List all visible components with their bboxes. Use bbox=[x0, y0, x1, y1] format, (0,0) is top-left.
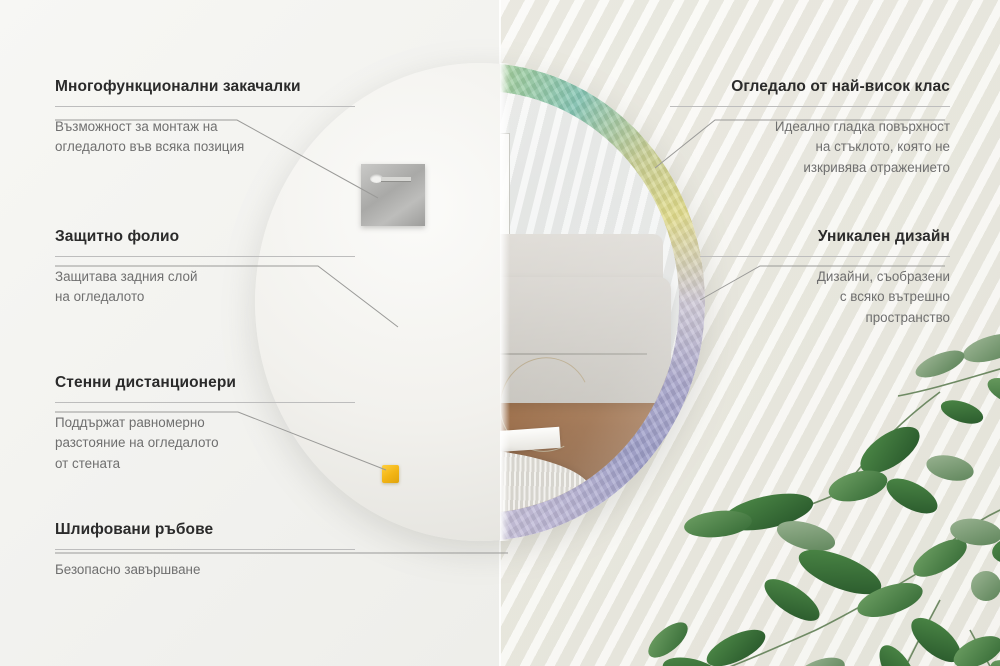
feature-rule bbox=[670, 106, 950, 107]
feature-title-polished-edges: Шлифовани ръбове bbox=[55, 521, 355, 540]
feature-title-wall-spacers: Стенни дистанционери bbox=[55, 374, 355, 393]
feature-rule bbox=[55, 106, 355, 107]
feature-title-protective-film: Защитно фолио bbox=[55, 228, 355, 247]
feature-title-hangers: Многофункционални закачалки bbox=[55, 78, 355, 97]
feature-block-premium-mirror: Огледало от най-висок клас Идеално гладк… bbox=[670, 78, 950, 179]
feature-body-hangers: Възможност за монтаж на огледалото във в… bbox=[55, 117, 355, 159]
infographic-canvas: Многофункционални закачалки Възможност з… bbox=[0, 0, 1000, 666]
feature-rule bbox=[700, 256, 950, 257]
feature-block-unique-design: Уникален дизайн Дизайни, съобразени с вс… bbox=[700, 228, 950, 329]
feature-rule bbox=[55, 256, 355, 257]
hanger-bracket bbox=[361, 164, 425, 226]
keyhole-track bbox=[381, 177, 411, 182]
feature-block-wall-spacers: Стенни дистанционери Поддържат равномерн… bbox=[55, 374, 355, 475]
feature-rule bbox=[55, 402, 355, 403]
feature-title-premium-mirror: Огледало от най-висок клас bbox=[670, 78, 950, 97]
feature-block-hangers: Многофункционални закачалки Възможност з… bbox=[55, 78, 355, 158]
feature-block-polished-edges: Шлифовани ръбове Безопасно завършване bbox=[55, 521, 355, 580]
keyhole-slot-icon bbox=[370, 174, 404, 183]
feature-title-unique-design: Уникален дизайн bbox=[700, 228, 950, 247]
feature-body-polished-edges: Безопасно завършване bbox=[55, 560, 355, 581]
feature-body-unique-design: Дизайни, съобразени с всяко вътрешно про… bbox=[700, 267, 950, 329]
feature-rule bbox=[55, 549, 355, 550]
wall-spacer bbox=[382, 465, 399, 483]
feature-block-protective-film: Защитно фолио Защитава задния слой на ог… bbox=[55, 228, 355, 308]
feature-body-premium-mirror: Идеално гладка повърхност на стъклото, к… bbox=[670, 117, 950, 179]
feature-body-wall-spacers: Поддържат равномерно разстояние на оглед… bbox=[55, 413, 355, 475]
feature-body-protective-film: Защитава задния слой на огледалото bbox=[55, 267, 355, 309]
